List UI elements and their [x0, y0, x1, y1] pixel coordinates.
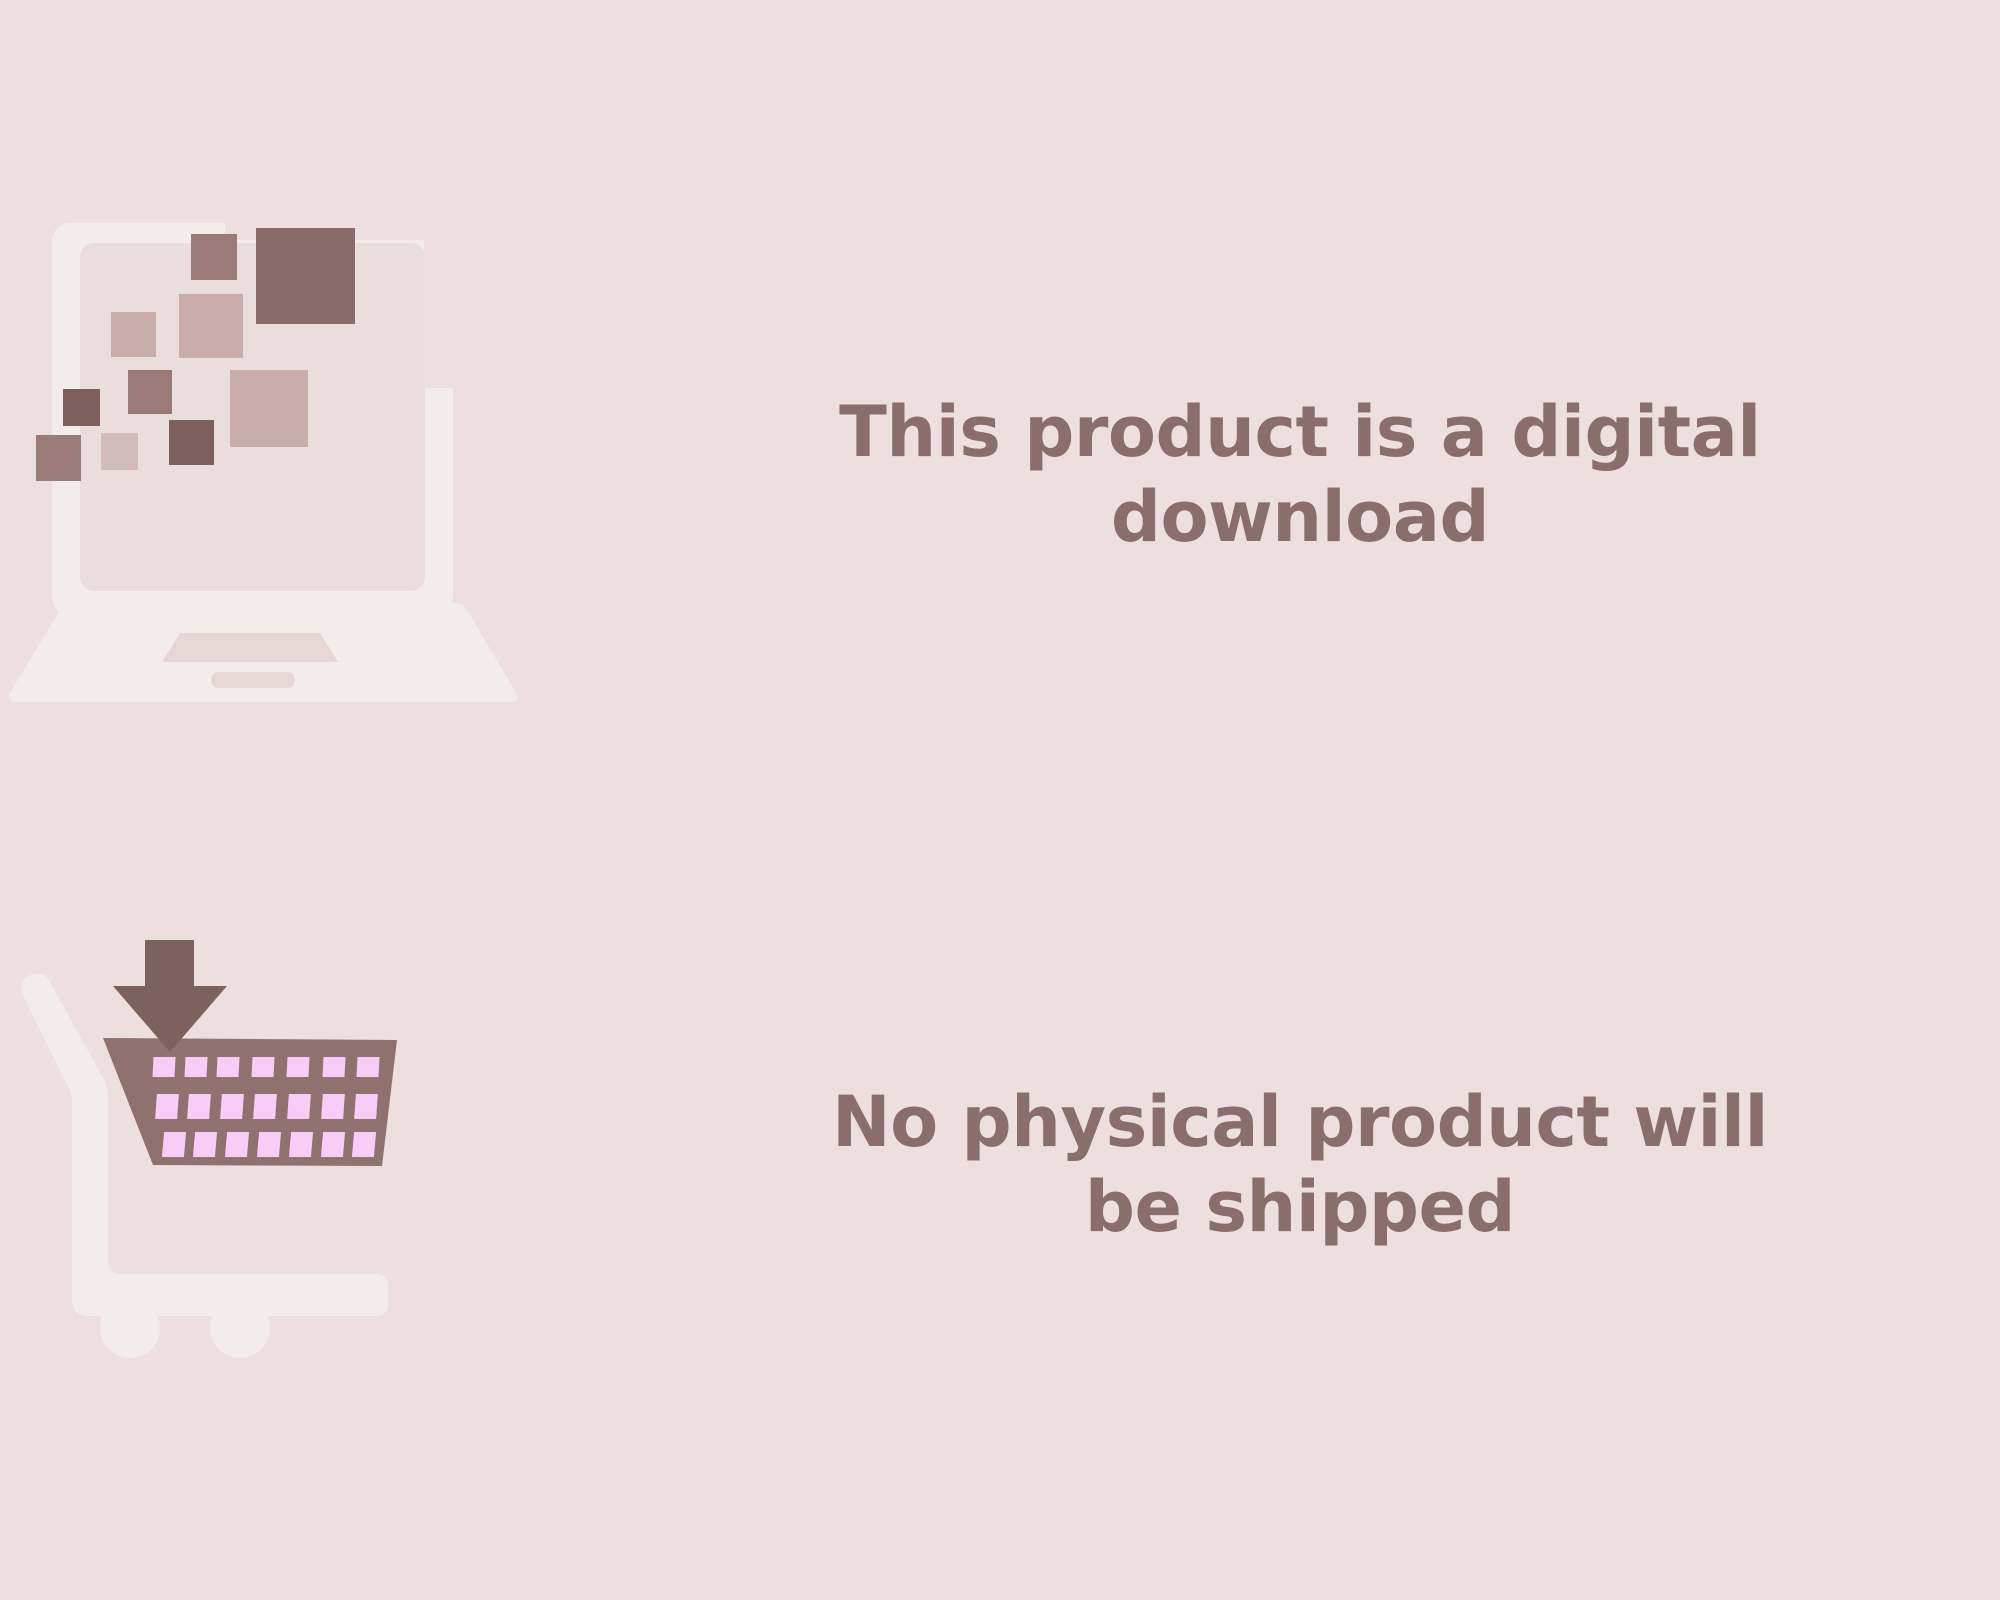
pixel-square-9 [36, 435, 81, 481]
basket-cell-r3c1 [162, 1132, 186, 1157]
basket-cell-r2c7 [354, 1094, 378, 1119]
cart-wheel-right [210, 1298, 270, 1358]
pixel-square-1 [256, 228, 355, 324]
basket-cell-r2c6 [321, 1094, 345, 1119]
cart-wheel-left [100, 1298, 160, 1358]
laptop-icon-svg [0, 210, 780, 740]
basket-cell-r1c7 [356, 1057, 379, 1077]
basket-cell-r3c2 [193, 1132, 217, 1157]
basket-cell-r1c3 [216, 1057, 239, 1077]
laptop-with-pixels-icon [0, 210, 780, 740]
basket-cell-r1c1 [152, 1057, 175, 1077]
basket-cell-r2c2 [187, 1094, 211, 1119]
no-shipping-icon-cell [0, 930, 780, 1400]
digital-download-text-cell: This product is a digital download [780, 390, 2000, 561]
laptop-trackpad [162, 633, 338, 662]
basket-cell-r1c5 [286, 1057, 309, 1077]
basket-cell-r1c6 [322, 1057, 345, 1077]
digital-download-label: This product is a digital download [780, 390, 1820, 561]
basket-cell-r1c2 [184, 1057, 207, 1077]
laptop-front-lip [211, 672, 295, 688]
pixel-square-8 [169, 420, 214, 465]
laptop-bezel-cutout-right [424, 210, 464, 388]
pixel-square-6 [128, 370, 172, 414]
basket-cell-r2c4 [253, 1094, 277, 1119]
basket-cell-r2c5 [287, 1094, 311, 1119]
pixel-square-4 [111, 312, 156, 357]
basket-cell-r3c3 [225, 1132, 249, 1157]
basket-cell-r2c1 [155, 1094, 179, 1119]
feature-row-digital-download: This product is a digital download [0, 210, 2000, 740]
basket-cell-r3c4 [257, 1132, 281, 1157]
no-shipping-label: No physical product will be shipped [780, 1080, 1820, 1251]
cart-icon-svg [0, 930, 780, 1400]
digital-download-icon-cell [0, 210, 780, 740]
no-shipping-text-cell: No physical product will be shipped [780, 1080, 2000, 1251]
pixel-square-7 [63, 389, 100, 426]
pixel-square-2 [191, 234, 237, 280]
pixel-square-5 [230, 370, 308, 447]
download-arrow [113, 940, 227, 1052]
basket-cell-r3c7 [352, 1132, 376, 1157]
pixel-square-3 [179, 294, 243, 358]
product-info-graphic: This product is a digital download [0, 0, 2000, 1600]
basket-cell-r3c5 [289, 1132, 313, 1157]
basket-cell-r1c4 [251, 1057, 274, 1077]
basket-cell-r3c6 [321, 1132, 345, 1157]
pixel-square-10 [101, 433, 138, 470]
feature-row-no-shipping: No physical product will be shipped [0, 930, 2000, 1400]
shopping-cart-download-icon [0, 930, 780, 1400]
basket-cell-r2c3 [220, 1094, 244, 1119]
